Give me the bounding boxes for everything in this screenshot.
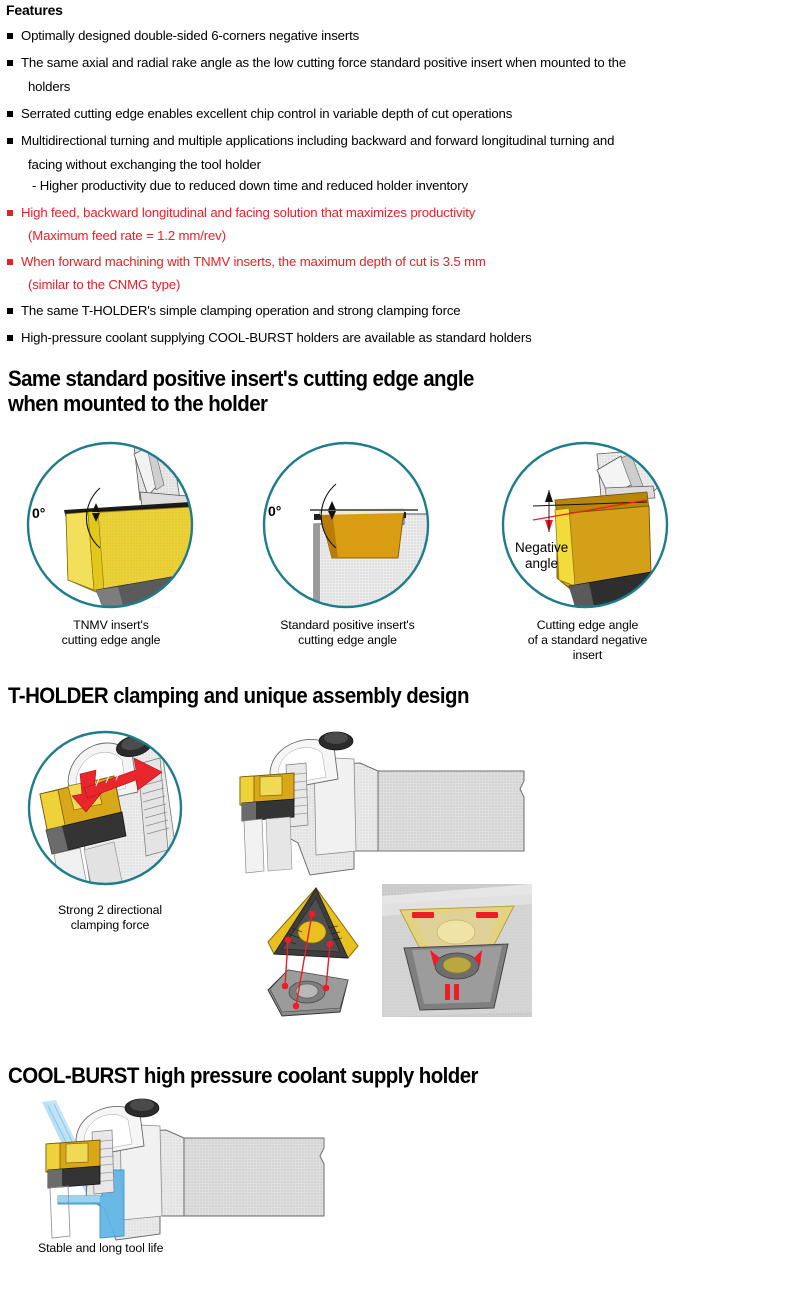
figure-caption-standard-negative: Cutting edge angle of a standard negativ… [495,618,680,663]
features-heading: Features [6,2,63,18]
feature-text: (similar to the CNMG type) [28,277,180,292]
feature-item-highlight-continuation: (Maximum feed rate = 1.2 mm/rev) [6,226,786,245]
t-holder-clamping-diagram [10,730,210,900]
section-heading-cool-burst: COOL-BURST high pressure coolant supply … [8,1063,478,1088]
figure-standard-positive-cutting-edge-angle: 0° [258,440,438,615]
feature-item: The same T-HOLDER's simple clamping oper… [6,301,786,320]
bullet-square-icon [7,308,13,314]
feature-item: Optimally designed double-sided 6-corner… [6,26,786,45]
bullet-square-icon [7,335,13,341]
feature-item: Serrated cutting edge enables excellent … [6,104,786,123]
feature-text: holders [28,79,70,94]
bullet-square-icon [7,111,13,117]
angle-label-negative-line2: angle [525,556,558,571]
feature-text: Multidirectional turning and multiple ap… [21,133,614,148]
feature-text: (Maximum feed rate = 1.2 mm/rev) [28,228,226,243]
feature-item: Multidirectional turning and multiple ap… [6,131,786,150]
standard-positive-insert-diagram: 0° [258,440,438,615]
feature-text: The same T-HOLDER's simple clamping oper… [21,303,460,318]
feature-text: High-pressure coolant supplying COOL-BUR… [21,330,532,345]
feature-item-highlight-continuation: (similar to the CNMG type) [6,275,786,294]
standard-negative-insert-diagram: Negative angle [497,440,677,615]
feature-text: Optimally designed double-sided 6-corner… [21,28,359,43]
figure-caption-clamping-force: Strong 2 directional clamping force [20,903,200,933]
figure-caption-cool-burst: Stable and long tool life [38,1241,238,1256]
bullet-square-icon [7,259,13,265]
feature-item-highlight: High feed, backward longitudinal and fac… [6,203,786,222]
figure-cool-burst-holder [38,1100,328,1245]
t-holder-assembly-illustration [228,733,528,878]
technical-brochure-page: Features Optimally designed double-sided… [0,0,800,1300]
figure-standard-negative-cutting-edge-angle: Negative angle [497,440,677,615]
figure-t-holder-assembly [228,733,528,878]
feature-item: High-pressure coolant supplying COOL-BUR… [6,328,786,347]
feature-text: When forward machining with TNMV inserts… [21,254,486,269]
feature-text: The same axial and radial rake angle as … [21,55,626,70]
bullet-square-icon [7,210,13,216]
insert-seat-exploded-diagram [252,884,387,1029]
figure-caption-tnmv: TNMV insert's cutting edge angle [22,618,200,648]
section-heading-t-holder: T-HOLDER clamping and unique assembly de… [8,683,469,708]
figure-insert-seat-exploded [252,884,387,1029]
cool-burst-holder-illustration [38,1100,328,1245]
angle-label-0deg: 0° [32,505,45,521]
bullet-square-icon [7,33,13,39]
feature-item-highlight: When forward machining with TNMV inserts… [6,252,786,271]
feature-item-continuation: facing without exchanging the tool holde… [6,155,786,174]
figure-t-holder-clamping [10,730,210,900]
feature-text: facing without exchanging the tool holde… [28,157,261,172]
feature-text: - Higher productivity due to reduced dow… [32,178,468,193]
feature-sub-item: - Higher productivity due to reduced dow… [6,176,786,195]
features-list: Optimally designed double-sided 6-corner… [6,26,786,355]
feature-text: High feed, backward longitudinal and fac… [21,205,475,220]
bullet-square-icon [7,60,13,66]
tnmv-insert-diagram: 0° [22,440,202,615]
feature-text: Serrated cutting edge enables excellent … [21,106,512,121]
section-heading-cutting-edge-angle: Same standard positive insert's cutting … [8,366,474,416]
figure-tnmv-cutting-edge-angle: 0° [22,440,202,615]
feature-item-continuation: holders [6,77,786,96]
figure-seated-insert-photo [382,884,532,1017]
bullet-square-icon [7,138,13,144]
seated-insert-photo [382,884,532,1017]
figure-caption-standard-positive: Standard positive insert's cutting edge … [255,618,440,648]
feature-item: The same axial and radial rake angle as … [6,53,786,72]
angle-label-0deg: 0° [268,503,281,519]
angle-label-negative-line1: Negative [515,540,568,555]
